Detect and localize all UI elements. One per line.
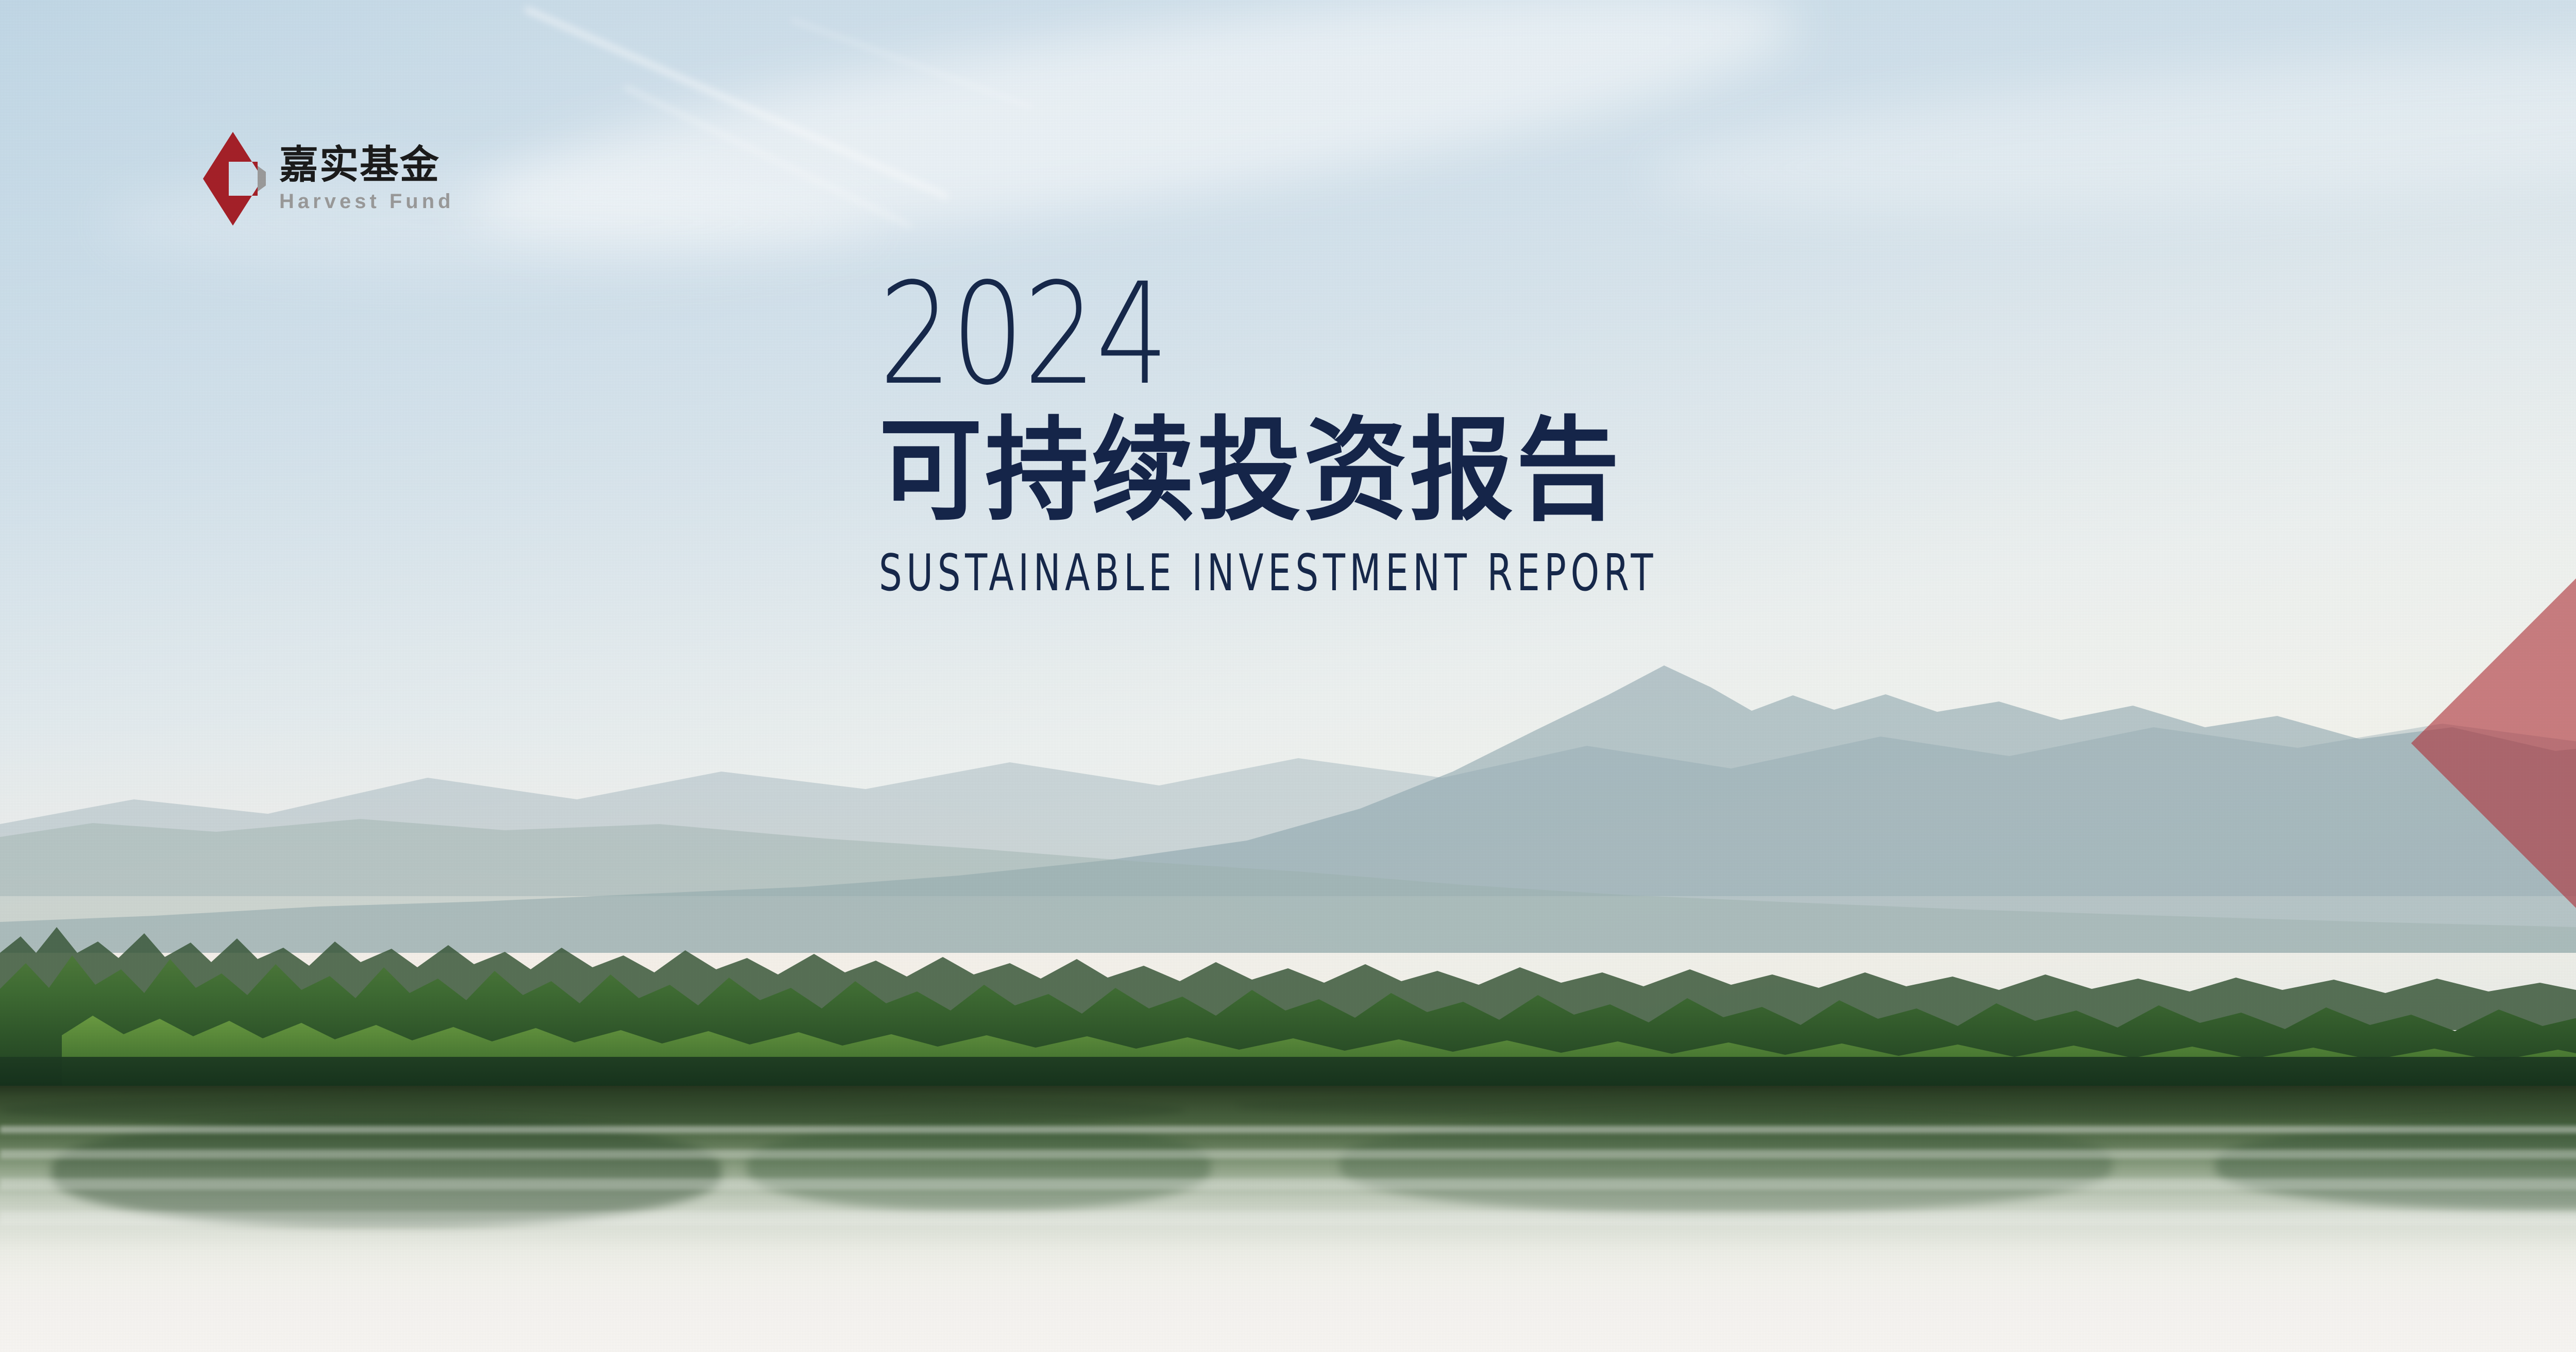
cover-title-block: 2024 可持续投资报告 SUSTAINABLE INVESTMENT REPO… xyxy=(879,268,1960,598)
water-reflection xyxy=(747,1123,1211,1210)
report-cover-banner: 嘉实基金 Harvest Fund 2024 可持续投资报告 SUSTAINAB… xyxy=(0,0,2576,1352)
report-title-en: SUSTAINABLE INVESTMENT REPORT xyxy=(879,548,1657,598)
water-reflection xyxy=(52,1118,721,1226)
brand-name-en: Harvest Fund xyxy=(279,191,454,212)
brand-logo-text: 嘉实基金 Harvest Fund xyxy=(279,146,454,212)
report-title-cn: 可持续投资报告 xyxy=(879,412,1874,530)
water-ripple-line xyxy=(0,1126,2576,1133)
brand-logo[interactable]: 嘉实基金 Harvest Fund xyxy=(200,130,454,228)
water-ripple-line xyxy=(0,1178,2576,1190)
water-fade xyxy=(0,1236,2576,1352)
shoreline-strip xyxy=(0,1057,2576,1089)
harvest-diamond-logo-icon xyxy=(200,130,266,228)
report-year: 2024 xyxy=(879,268,1766,402)
water-ripple-line xyxy=(0,1150,2576,1159)
brand-name-cn: 嘉实基金 xyxy=(279,146,454,185)
water-ripple-line xyxy=(0,1211,2576,1225)
